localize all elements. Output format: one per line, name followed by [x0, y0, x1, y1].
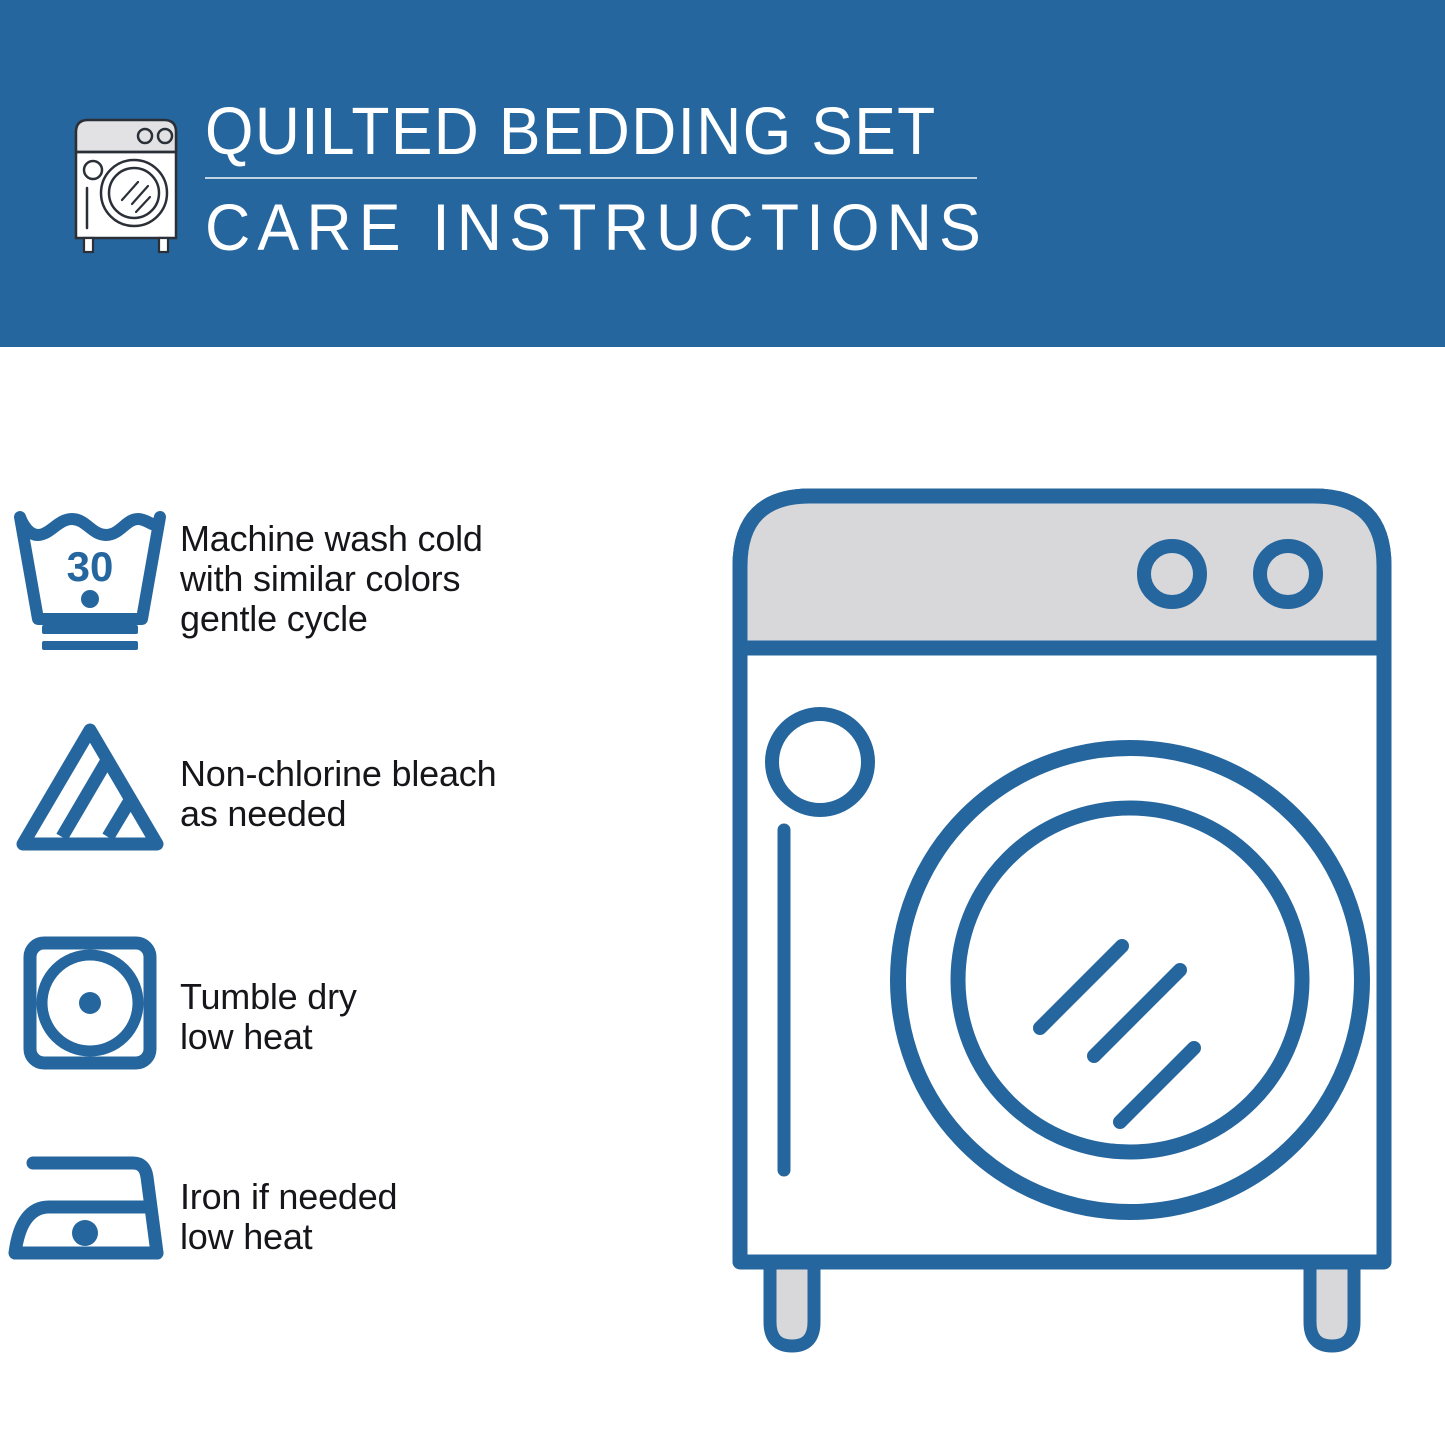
care-line: Machine wash cold — [180, 519, 483, 559]
front-load-washing-machine-illustration — [722, 470, 1402, 1370]
care-line: Tumble dry — [180, 977, 357, 1017]
wash-temperature-value: 30 — [67, 543, 114, 590]
care-line: low heat — [180, 1217, 397, 1257]
care-item-label: Machine wash cold with similar colors ge… — [180, 495, 483, 639]
tumble-dry-low-heat-icon — [0, 929, 180, 1073]
care-item-label: Non-chlorine bleach as needed — [180, 714, 496, 834]
page-title: QUILTED BEDDING SET — [205, 96, 949, 168]
care-line: gentle cycle — [180, 599, 483, 639]
washer-dispenser-dial — [772, 714, 868, 810]
washer-knob-left — [1144, 546, 1200, 602]
washer-knob-right — [1260, 546, 1316, 602]
wash-tub-30-gentle-icon: 30 — [0, 495, 180, 651]
care-item-bleach: Non-chlorine bleach as needed — [0, 714, 700, 858]
page-header: QUILTED BEDDING SET CARE INSTRUCTIONS — [0, 0, 1445, 347]
care-item-label: Iron if needed low heat — [180, 1137, 397, 1257]
iron-low-heat-icon — [0, 1137, 180, 1271]
washer-door-inner-ring — [958, 808, 1302, 1152]
washing-machine-icon — [62, 100, 190, 255]
care-line: low heat — [180, 1017, 357, 1057]
care-instruction-list: 30 Machine wash cold with similar colors… — [0, 347, 700, 1445]
care-item-iron: Iron if needed low heat — [0, 1137, 700, 1271]
care-line: Iron if needed — [180, 1177, 397, 1217]
title-divider — [205, 177, 977, 179]
non-chlorine-bleach-triangle-icon — [0, 714, 180, 858]
care-line: with similar colors — [180, 559, 483, 599]
care-item-tumble-dry: Tumble dry low heat — [0, 929, 700, 1073]
page-subtitle: CARE INSTRUCTIONS — [205, 192, 965, 262]
care-line: Non-chlorine bleach — [180, 754, 496, 794]
care-item-label: Tumble dry low heat — [180, 929, 357, 1057]
care-instructions-page: QUILTED BEDDING SET CARE INSTRUCTIONS 30 — [0, 0, 1445, 1445]
header-text-block: QUILTED BEDDING SET CARE INSTRUCTIONS — [205, 96, 1005, 262]
care-line: as needed — [180, 794, 496, 834]
care-item-machine-wash: 30 Machine wash cold with similar colors… — [0, 495, 700, 651]
